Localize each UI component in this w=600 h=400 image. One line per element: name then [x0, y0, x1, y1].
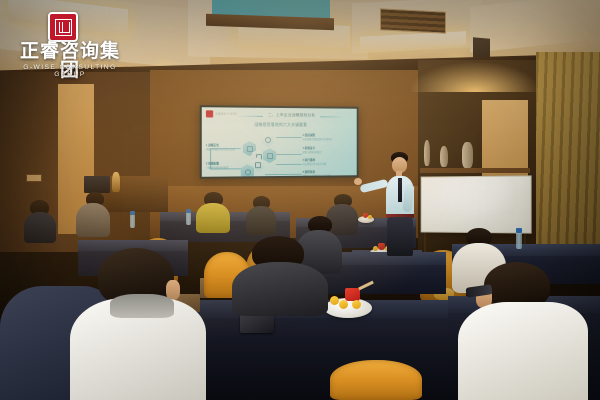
whiteboard-glare: [422, 176, 531, 232]
collar: [110, 294, 174, 318]
wall-cove-glow: [410, 62, 540, 92]
bottle-cap: [186, 209, 191, 213]
laptop: [84, 176, 110, 193]
banquet-chair: [330, 360, 422, 400]
logo-badge: [48, 12, 78, 42]
water-bottle: [130, 214, 135, 228]
smartphone: [240, 315, 274, 333]
air-vent-icon: [380, 8, 446, 33]
decorative-display-niche: [482, 100, 528, 178]
pineapple-piece: [339, 300, 348, 309]
presenter-speaking: [378, 152, 420, 256]
audience-member: [196, 192, 230, 232]
presenter-hand: [354, 178, 362, 185]
audience-member: [458, 262, 588, 400]
necktie: [398, 178, 402, 202]
presenter-trousers: [387, 217, 413, 256]
vase: [462, 142, 473, 168]
vase: [424, 140, 430, 166]
bottle-cap: [516, 228, 522, 233]
watermelon-slice: [345, 288, 360, 301]
pineapple-piece: [330, 296, 339, 305]
water-bottle: [516, 232, 522, 249]
torso: [76, 203, 110, 237]
pineapple-piece: [368, 215, 372, 219]
niche-shelf: [420, 168, 530, 173]
flip-chart-whiteboard: [421, 175, 532, 233]
photo-scene: 正睿咨询 G-WISE 二、上市企业战略规划分析 战略规划落地的六大关键要素: [0, 0, 600, 400]
bottle-cap: [130, 211, 135, 215]
audience-member: [70, 248, 206, 400]
projection-screen: 正睿咨询 G-WISE 二、上市企业战略规划分析 战略规划落地的六大关键要素: [200, 105, 359, 179]
pineapple-piece: [352, 300, 361, 309]
torso: [196, 203, 230, 233]
torso: [458, 302, 588, 400]
logo-glyph-icon: [55, 19, 72, 36]
presentation-slide: 正睿咨询 G-WISE 二、上市企业战略规划分析 战略规划落地的六大关键要素: [202, 107, 357, 177]
torso: [232, 262, 328, 316]
logo-english-name: G-WISE CONSULTING GROUP: [10, 64, 130, 78]
audience-member: [24, 200, 56, 242]
torso: [24, 212, 56, 243]
screen-glare: [202, 107, 357, 177]
vase: [440, 146, 448, 167]
water-bottle: [186, 212, 191, 225]
light-switch: [26, 174, 42, 182]
audience-member: [76, 192, 110, 236]
gwise-consulting-logo: 正睿咨询集团 G-WISE CONSULTING GROUP: [10, 12, 130, 78]
table-lamp: [112, 172, 120, 192]
audience-member: [232, 236, 328, 312]
torso: [246, 206, 276, 235]
audience-member: [246, 196, 276, 234]
